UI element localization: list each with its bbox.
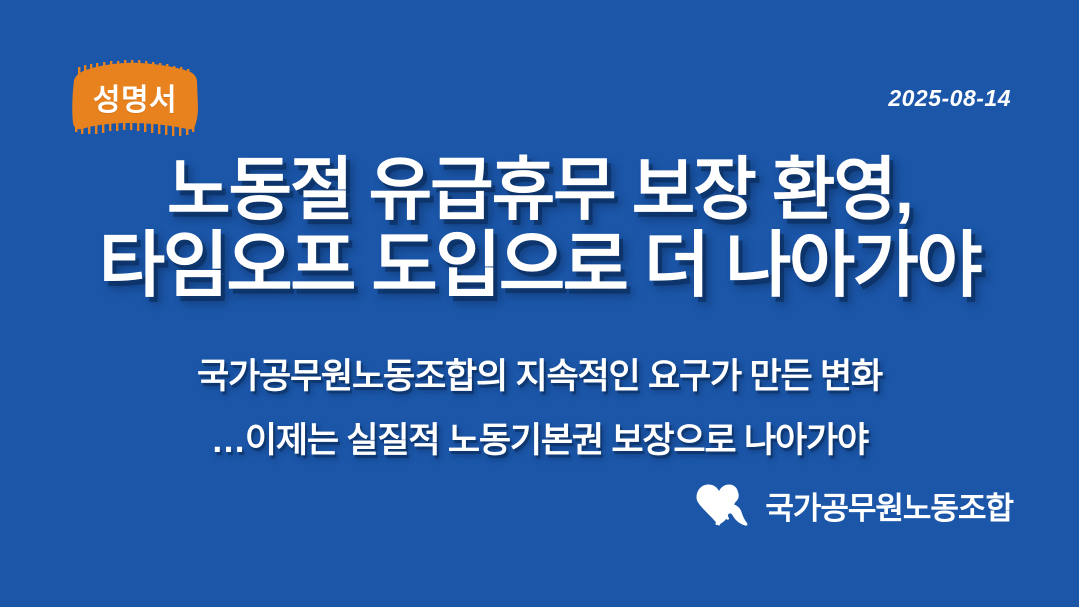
statement-badge: 성명서 — [64, 58, 206, 138]
badge-label: 성명서 — [64, 58, 206, 138]
organization-name: 국가공무원노동조합 — [765, 483, 1013, 528]
headline: 노동절 유급휴무 보장 환영, 타임오프 도입으로 더 나아가야 — [0, 152, 1079, 306]
publish-date: 2025-08-14 — [888, 85, 1011, 112]
headline-line-2: 타임오프 도입으로 더 나아가야 — [0, 227, 1079, 305]
subtitle-line-1: 국가공무원노동조합의 지속적인 요구가 만든 변화 — [0, 345, 1079, 409]
subtitle: 국가공무원노동조합의 지속적인 요구가 만든 변화 …이제는 실질적 노동기본권… — [0, 345, 1079, 472]
heart-person-icon — [694, 482, 752, 528]
organization-logo: 국가공무원노동조합 — [694, 482, 1013, 528]
subtitle-line-2: …이제는 실질적 노동기본권 보장으로 나아가야 — [0, 409, 1079, 473]
statement-card: 성명서 2025-08-14 노동절 유급휴무 보장 환영, 타임오프 도입으로… — [0, 0, 1079, 607]
headline-line-1: 노동절 유급휴무 보장 환영, — [0, 152, 1079, 227]
